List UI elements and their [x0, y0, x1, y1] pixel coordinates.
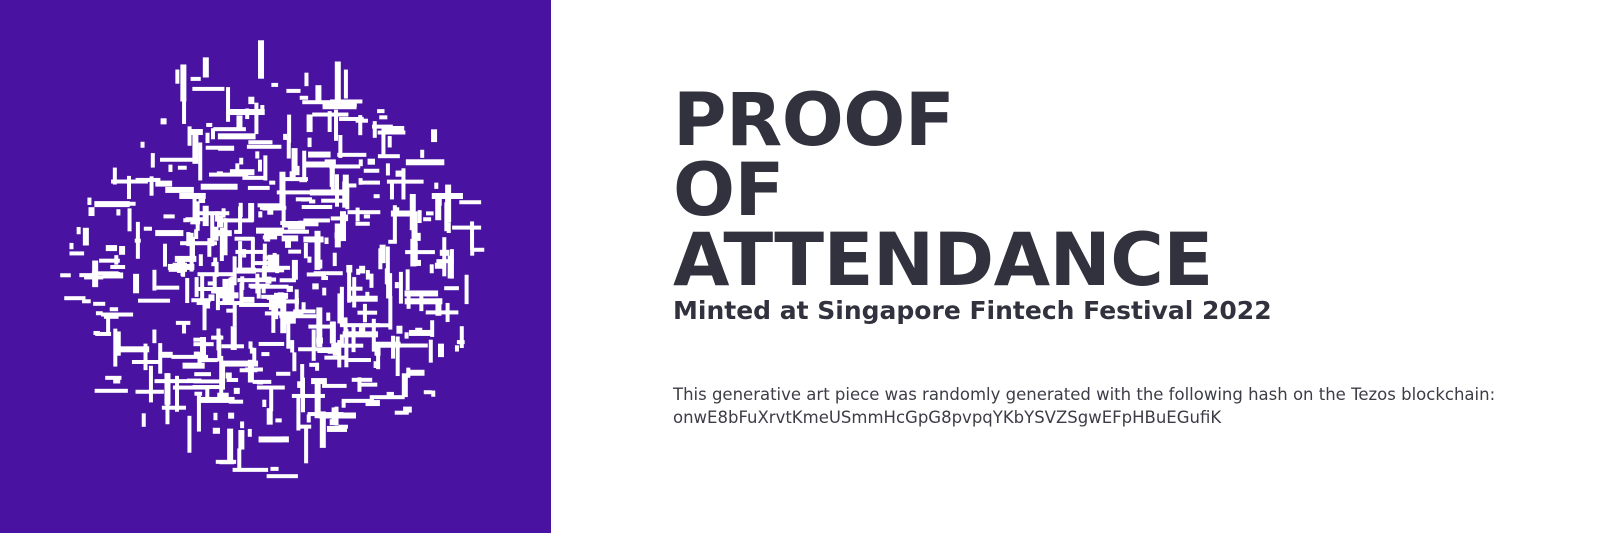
proof-of-attendance-certificate: PROOF OF ATTENDANCE Minted at Singapore … — [0, 0, 1600, 533]
title-line-of: OF — [673, 156, 1573, 226]
description-text: This generative art piece was randomly g… — [673, 383, 1553, 406]
generative-art-panel — [0, 0, 551, 533]
event-subtitle: Minted at Singapore Fintech Festival 202… — [673, 296, 1272, 326]
page-title: PROOF OF ATTENDANCE — [673, 86, 1573, 296]
certificate-content-panel: PROOF OF ATTENDANCE Minted at Singapore … — [551, 0, 1600, 533]
transaction-hash: onwE8bFuXrvtKmeUSmmHcGpG8pvpqYKbYSVZSgwE… — [673, 406, 1553, 429]
title-line-proof: PROOF — [673, 86, 1573, 156]
description-block: This generative art piece was randomly g… — [673, 383, 1553, 430]
title-line-attendance: ATTENDANCE — [673, 226, 1573, 296]
generative-art-canvas — [0, 0, 551, 533]
